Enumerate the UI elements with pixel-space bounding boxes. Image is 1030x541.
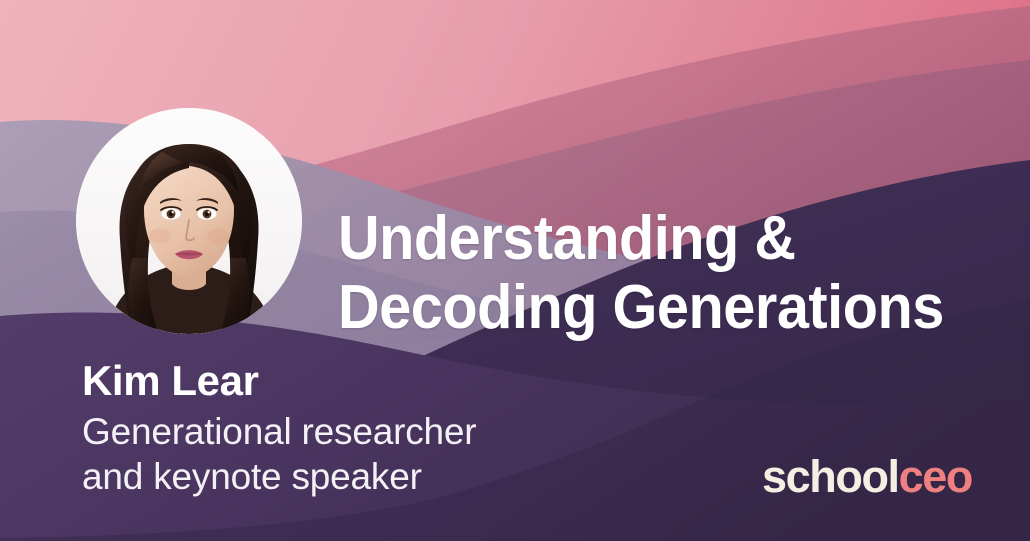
schoolceo-logo: schoolceo [762, 454, 972, 499]
logo-word-school: school [762, 451, 899, 502]
speaker-info: Kim Lear Generational researcher and key… [82, 358, 476, 500]
speaker-role: Generational researcher and keynote spea… [82, 409, 476, 499]
headline: Understanding & Decoding Generations [338, 204, 944, 343]
speaker-promo-card: Understanding & Decoding Generations Kim… [0, 0, 1030, 541]
speaker-role-line-1: Generational researcher [82, 409, 476, 454]
speaker-role-line-2: and keynote speaker [82, 454, 476, 499]
speaker-portrait [76, 108, 302, 334]
speaker-name: Kim Lear [82, 358, 476, 403]
logo-word-ceo: ceo [899, 451, 972, 502]
portrait-illustration [76, 108, 302, 334]
headline-line-2: Decoding Generations [338, 273, 944, 342]
headline-line-1: Understanding & [338, 204, 944, 273]
